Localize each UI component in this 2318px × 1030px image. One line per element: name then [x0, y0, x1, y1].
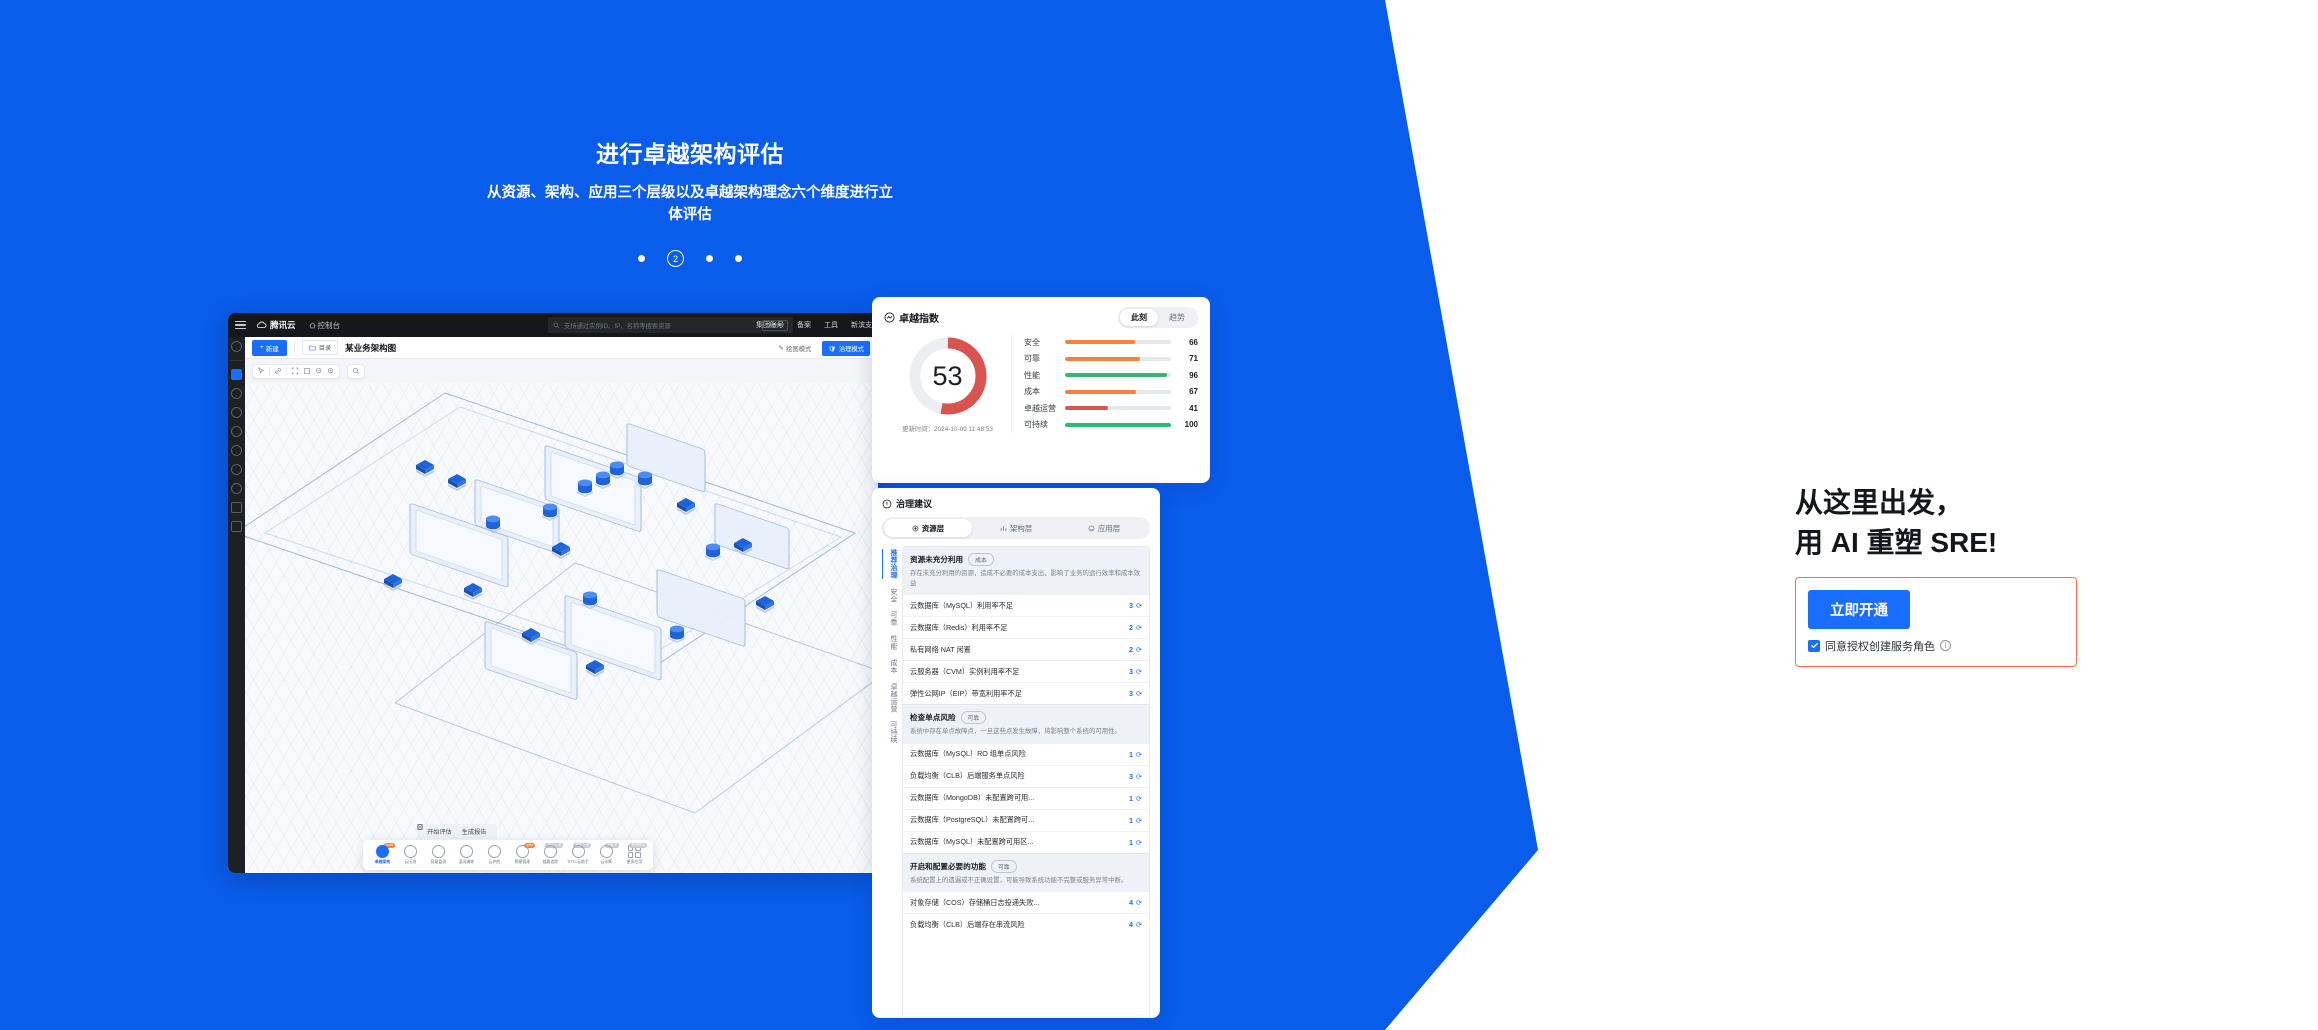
carousel-pagination[interactable]: 2: [470, 250, 910, 267]
trtc-assistant-icon: [572, 845, 585, 858]
updated-value: 2024-10-09 11:48:53: [934, 426, 993, 433]
architecture-layer-icon: [1000, 525, 1007, 532]
item-count: 3: [1129, 689, 1133, 698]
updated-label: 更新时间：: [902, 426, 934, 433]
search-icon[interactable]: [352, 367, 360, 375]
frame-icon[interactable]: [303, 367, 311, 375]
metric-name: 成本: [1024, 386, 1058, 397]
metric-row: 安全 66: [1024, 337, 1198, 348]
search-icon: [553, 322, 560, 329]
authorize-checkbox-label: 同意授权创建服务角色: [1825, 638, 1935, 654]
zoom-out-icon[interactable]: [315, 367, 323, 375]
canvas-search-button[interactable]: [347, 364, 365, 379]
pagination-dot-1[interactable]: [638, 255, 645, 262]
group-tag: 可靠: [961, 711, 987, 724]
group-title: 检查单点风险: [910, 712, 956, 723]
topbar-menu[interactable]: 集团账号 备案 工具 新滨支: [756, 313, 872, 337]
start-assessment-button[interactable]: 开始评估: [427, 827, 452, 836]
metric-bar: [1065, 340, 1171, 344]
dock-item-capacity-monitor[interactable]: 容量监测: [424, 845, 452, 866]
category-operations[interactable]: 卓越运营: [882, 683, 897, 713]
item-count: 2: [1129, 645, 1133, 654]
updated-time: 更新时间：2024-10-09 11:48:53: [902, 424, 993, 433]
tab-architecture-layer-label: 架构层: [1010, 523, 1032, 534]
item-count: 2: [1129, 623, 1133, 632]
governance-title: 治理建议: [896, 497, 932, 510]
generate-report-button[interactable]: 生成报告: [462, 827, 487, 836]
brand-label: 腾讯云: [270, 319, 296, 331]
suggestion-group-header: 检查单点风险 可靠 系统中存在单点故障点，一旦这些点发生故障，将影响整个系统的可…: [903, 704, 1149, 743]
console-link[interactable]: 控制台: [309, 320, 341, 331]
page-title: 进行卓越架构评估: [470, 140, 910, 170]
item-text: 云数据库（MySQL）未配置跨可用区...: [910, 837, 1125, 847]
metric-bar: [1065, 406, 1171, 410]
group-tag: 可靠: [991, 860, 1017, 873]
governance-category-rail[interactable]: 推荐治理 安全 可靠 性能 成本 卓越运营 可持续: [882, 546, 897, 1018]
canvas-toolbar[interactable]: [245, 359, 878, 383]
check-icon: [1810, 641, 1819, 650]
cta-block: 从这里出发， 用 AI 重塑 SRE! 立即开通 同意授权创建服务角色 i: [1795, 483, 2125, 667]
tab-resource-layer-label: 资源层: [922, 523, 944, 534]
canvas-action-bar[interactable]: 开始评估 生成报告: [417, 824, 497, 839]
pointer-icon[interactable]: [257, 367, 265, 375]
group-description: 存在未充分利用的资源，造成不必要的成本支出，影响了业务的运行效率和成本效益: [910, 569, 1142, 588]
metric-value: 96: [1178, 371, 1198, 380]
excellence-score-panel: 53 更新时间：2024-10-09 11:48:53: [884, 334, 1012, 433]
metric-value: 67: [1178, 387, 1198, 396]
link-icon[interactable]: [274, 367, 282, 375]
item-count: 1: [1129, 794, 1133, 803]
lightbulb-icon: [882, 499, 892, 509]
divider: [294, 342, 295, 353]
governance-layer-tabs[interactable]: 资源层 架构层 应用层: [882, 517, 1150, 539]
metric-value: 41: [1178, 404, 1198, 413]
report-icon: [417, 824, 423, 830]
item-text: 云数据库（MongoDB）未配置跨可用...: [910, 793, 1125, 803]
refresh-icon[interactable]: ⟳: [1136, 689, 1142, 698]
page-subtitle: 从资源、架构、应用三个层级以及卓越架构理念六个维度进行立体评估: [470, 182, 910, 227]
governance-suggestion-list[interactable]: 资源未充分利用 成本 存在未充分利用的资源，造成不必要的成本支出，影响了业务的运…: [902, 546, 1150, 1018]
pencil-icon: ✎: [778, 345, 783, 352]
metric-bar: [1065, 390, 1171, 394]
governance-body: 推荐治理 安全 可靠 性能 成本 卓越运营 可持续 资源未充分利用 成本 存在未…: [882, 546, 1150, 1018]
application-layer-icon: [1088, 525, 1095, 532]
topbar-menu-item-1[interactable]: 备案: [797, 320, 811, 330]
architecture-canvas[interactable]: 开始评估 生成报告 beta 卓越架构: [245, 383, 878, 873]
sidebar-item-server[interactable]: [231, 521, 242, 532]
console-topbar: 腾讯云 控制台 支持通过实例ID、IP、名称等搜索资源 快捷键 / 集团账号 备…: [228, 313, 878, 337]
category-performance[interactable]: 性能: [882, 635, 897, 650]
divider: [286, 367, 287, 375]
dock-item-cloud-diagnosis[interactable]: 开发中 云诊断: [592, 845, 620, 866]
authorize-checkbox-row[interactable]: 同意授权创建服务角色 i: [1808, 638, 2062, 654]
dock-item-label: 容量监测: [430, 859, 445, 865]
item-count: 1: [1129, 750, 1133, 759]
list-item[interactable]: 云服务器（CVM）实例利用率不足 3 ⟳: [903, 660, 1149, 682]
hero-block: 进行卓越架构评估 从资源、架构、应用三个层级以及卓越架构理念六个维度进行立体评估: [470, 140, 910, 227]
directory-button[interactable]: 目录: [302, 340, 338, 355]
topbar-menu-item-0[interactable]: 集团账号: [756, 320, 784, 330]
list-item[interactable]: 负载均衡（CLB）后端服务单点风险 3 ⟳: [903, 765, 1149, 787]
refresh-icon[interactable]: ⟳: [1136, 794, 1142, 803]
list-item[interactable]: 对象存储（COS）存储桶日志投递失败... 4 ⟳: [903, 891, 1149, 913]
metric-list: 安全 66 可靠 71 性能 96 成本 67: [1012, 334, 1198, 433]
document-title: 某业务架构图: [345, 342, 396, 354]
fit-icon[interactable]: [291, 367, 299, 375]
item-text: 弹性公网IP（EIP）带宽利用率不足: [910, 689, 1125, 699]
tab-application-layer[interactable]: 应用层: [1060, 519, 1148, 537]
dock-item-load-test[interactable]: 云压测: [396, 845, 424, 866]
item-text: 对象存储（COS）存储桶日志投递失败...: [910, 898, 1125, 908]
console-sidebar-rail[interactable]: [228, 337, 245, 873]
search-placeholder: 支持通过实例ID、IP、名称等搜索资源: [564, 321, 671, 330]
item-text: 云数据库（Redis）利用率不足: [910, 623, 1125, 633]
new-button[interactable]: + 新建: [252, 340, 287, 356]
metric-name: 可靠: [1024, 353, 1058, 364]
draw-mode-label: 绘图模式: [786, 344, 811, 353]
item-count: 3: [1129, 667, 1133, 676]
metric-name: 可持续: [1024, 419, 1058, 430]
cloud-escort-icon: [488, 845, 501, 858]
console-window-mock: 腾讯云 控制台 支持通过实例ID、IP、名称等搜索资源 快捷键 / 集团账号 备…: [228, 313, 878, 873]
metric-bar: [1065, 373, 1171, 377]
metric-row: 可靠 71: [1024, 353, 1198, 364]
pagination-dot-3[interactable]: [706, 255, 713, 262]
dock-item-chaos-drill[interactable]: 混沌演练: [452, 845, 480, 866]
suggestion-group-header: 资源未充分利用 成本 存在未充分利用的资源，造成不必要的成本支出，影响了业务的运…: [903, 547, 1149, 594]
dock-item-label: 云护航: [488, 859, 500, 865]
item-text: 负载均衡（CLB）后端存在串流风险: [910, 920, 1125, 930]
dock-item-label: 混沌演练: [458, 859, 473, 865]
cloud-icon: [256, 321, 267, 329]
activate-button[interactable]: 立即开通: [1808, 590, 1910, 629]
refresh-icon[interactable]: ⟳: [1136, 772, 1142, 781]
refresh-icon[interactable]: ⟳: [1136, 816, 1142, 825]
group-tag: 成本: [968, 553, 994, 566]
refresh-icon[interactable]: ⟳: [1136, 601, 1142, 610]
metric-name: 性能: [1024, 370, 1058, 381]
capacity-monitor-icon: [432, 845, 445, 858]
shield-icon: 🛡: [828, 345, 836, 353]
mode-switch-group[interactable]: ✎ 绘图模式 🛡 治理模式: [772, 341, 870, 356]
dock-item-cloud-escort[interactable]: 云护航: [480, 845, 508, 866]
item-text: 私有网络 NAT 闲置: [910, 645, 1125, 655]
list-item[interactable]: 云数据库（MySQL）利用率不足 3 ⟳: [903, 594, 1149, 616]
dock-item-label: 卓越架构: [374, 859, 389, 865]
sidebar-item-monitor[interactable]: [231, 426, 242, 437]
gauge-icon: [884, 312, 895, 323]
resource-layer-icon: [912, 525, 919, 532]
metric-name: 卓越运营: [1024, 403, 1058, 414]
tab-trend[interactable]: 趋势: [1158, 309, 1196, 326]
item-text: 云数据库（MySQL）利用率不足: [910, 601, 1125, 611]
metric-row: 性能 96: [1024, 370, 1198, 381]
item-text: 负载均衡（CLB）后端服务单点风险: [910, 771, 1125, 781]
tab-now[interactable]: 此刻: [1120, 309, 1158, 326]
metric-row: 成本 67: [1024, 386, 1198, 397]
load-test-icon: [404, 845, 417, 858]
metric-bar: [1065, 423, 1171, 427]
sidebar-item-window[interactable]: [231, 502, 242, 513]
excellence-index-card: 卓越指数 此刻 趋势 53 更新时间：2024-10-09 11:48:53: [872, 297, 1210, 483]
cta-headline-line1: 从这里出发，: [1795, 483, 2125, 523]
sidebar-item-network[interactable]: [231, 464, 242, 475]
refresh-icon[interactable]: ⟳: [1136, 750, 1142, 759]
refresh-icon[interactable]: ⟳: [1136, 667, 1142, 676]
metric-name: 安全: [1024, 337, 1058, 348]
item-text: 云数据库（PostgreSQL）未配置跨可...: [910, 815, 1125, 825]
category-security[interactable]: 安全: [882, 588, 897, 603]
metric-value: 66: [1178, 338, 1198, 347]
directory-label: 目录: [319, 343, 331, 352]
list-item[interactable]: 私有网络 NAT 闲置 2 ⟳: [903, 638, 1149, 660]
pagination-dot-2-active[interactable]: 2: [667, 250, 684, 267]
dock-item-more-apps[interactable]: 敬请期待 更多应用: [620, 845, 648, 866]
dock-item-label: 预案管理: [514, 859, 529, 865]
home-icon: [309, 322, 316, 329]
chaos-drill-icon: [460, 845, 473, 858]
sidebar-item-resource[interactable]: [231, 388, 242, 399]
console-body: + 新建 目录 某业务架构图 ✎ 绘图模式: [228, 337, 878, 873]
category-recommended[interactable]: 推荐治理: [882, 549, 897, 579]
excellence-index-body: 53 更新时间：2024-10-09 11:48:53 安全 66 可靠 71: [884, 334, 1198, 433]
dock-item-label: 云诊断: [600, 859, 612, 865]
hamburger-icon[interactable]: [235, 321, 246, 329]
tab-resource-layer[interactable]: 资源层: [884, 519, 972, 537]
list-item[interactable]: 云数据库（PostgreSQL）未配置跨可... 1 ⟳: [903, 809, 1149, 831]
document-toolbar: + 新建 目录 某业务架构图 ✎ 绘图模式: [245, 337, 878, 359]
score-donut: 53: [906, 334, 990, 418]
folder-icon: [309, 345, 316, 351]
divider: [269, 367, 270, 375]
plus-icon: +: [260, 344, 264, 351]
dock-item-label: 云压测: [404, 859, 416, 865]
score-value: 53: [906, 334, 990, 418]
plan-management-icon: [516, 845, 529, 858]
excellence-architecture-icon: [376, 845, 389, 858]
item-count: 1: [1129, 816, 1133, 825]
dock-item-label: TRTC云助手: [567, 859, 589, 865]
topbar-menu-item-3[interactable]: 新滨支: [851, 320, 872, 330]
rail-divider: [230, 360, 243, 361]
cloud-diagnosis-icon: [600, 845, 613, 858]
category-cost[interactable]: 成本: [882, 659, 897, 674]
group-description: 系统配置上的遗漏或不正确设置，可能导致系统功能不完整或服务异常中断。: [910, 876, 1142, 886]
refresh-icon[interactable]: ⟳: [1136, 623, 1142, 632]
category-sustainability[interactable]: 可持续: [882, 721, 897, 743]
refresh-icon[interactable]: ⟳: [1136, 838, 1142, 847]
item-count: 4: [1129, 920, 1133, 929]
draw-mode-button[interactable]: ✎ 绘图模式: [772, 341, 817, 356]
refresh-icon[interactable]: ⟳: [1136, 920, 1142, 929]
list-item[interactable]: 云数据库（MySQL）未配置跨可用区... 1 ⟳: [903, 831, 1149, 853]
cta-headline-line2: 用 AI 重塑 SRE!: [1795, 523, 2125, 563]
user-avatar-icon[interactable]: [231, 341, 242, 352]
governance-title-group: 治理建议: [882, 497, 1150, 510]
dock-item-trace[interactable]: 即将上线 链路追踪: [536, 845, 564, 866]
pagination-dot-4[interactable]: [735, 255, 742, 262]
excellence-index-header: 卓越指数 此刻 趋势: [884, 307, 1198, 328]
item-count: 3: [1129, 601, 1133, 610]
zoom-in-icon[interactable]: [327, 367, 335, 375]
new-button-label: 新建: [266, 343, 279, 353]
sidebar-item-architecture[interactable]: [231, 369, 242, 380]
cta-highlight-box: 立即开通 同意授权创建服务角色 i: [1795, 577, 2077, 667]
start-assessment-label: 开始评估: [427, 827, 452, 836]
console-link-label: 控制台: [318, 320, 341, 331]
list-item[interactable]: 云数据库（MongoDB）未配置跨可用... 1 ⟳: [903, 787, 1149, 809]
trace-icon: [544, 845, 557, 858]
app-dock[interactable]: beta 卓越架构 云压测 容量监测: [363, 840, 653, 870]
canvas-tool-group[interactable]: [252, 364, 340, 379]
governance-mode-label: 治理模式: [839, 344, 864, 353]
excellence-index-title-group: 卓越指数: [884, 310, 939, 325]
item-text: 云数据库（MySQL）RO 组单点风险: [910, 749, 1125, 759]
governance-suggestions-card: 治理建议 资源层 架构层 应用层 推荐治理 安全 可靠 性能 成本: [872, 488, 1160, 1018]
generate-report-label: 生成报告: [462, 827, 487, 836]
brand-logo[interactable]: 腾讯云: [256, 319, 296, 331]
dock-badge: 敬请期待: [629, 843, 647, 848]
group-title: 开启和配置必要的功能: [910, 861, 986, 872]
dock-item-label: 更多应用: [626, 859, 641, 865]
dock-item-trtc-assistant[interactable]: 即将上线 TRTC云助手: [564, 845, 592, 866]
suggestion-group-header: 开启和配置必要的功能 可靠 系统配置上的遗漏或不正确设置，可能导致系统功能不完整…: [903, 853, 1149, 892]
index-time-toggle[interactable]: 此刻 趋势: [1118, 307, 1198, 328]
category-reliability[interactable]: 可靠: [882, 611, 897, 626]
item-count: 4: [1129, 898, 1133, 907]
list-item[interactable]: 云数据库（Redis）利用率不足 2 ⟳: [903, 616, 1149, 638]
sidebar-item-cloud[interactable]: [231, 407, 242, 418]
refresh-icon[interactable]: ⟳: [1136, 898, 1142, 907]
group-description: 系统中存在单点故障点，一旦这些点发生故障，将影响整个系统的可用性。: [910, 727, 1142, 737]
info-icon[interactable]: i: [1940, 640, 1951, 651]
authorize-checkbox[interactable]: [1808, 640, 1820, 652]
list-item[interactable]: 弹性公网IP（EIP）带宽利用率不足 3 ⟳: [903, 682, 1149, 704]
metric-value: 100: [1178, 420, 1198, 429]
sidebar-item-target[interactable]: [231, 445, 242, 456]
list-item[interactable]: 负载均衡（CLB）后端存在串流风险 4 ⟳: [903, 913, 1149, 935]
list-item[interactable]: 云数据库（MySQL）RO 组单点风险 1 ⟳: [903, 743, 1149, 765]
metric-value: 71: [1178, 354, 1198, 363]
dock-item-excellence-architecture[interactable]: beta 卓越架构: [368, 845, 396, 866]
metric-row: 卓越运营 41: [1024, 403, 1198, 414]
topbar-menu-item-2[interactable]: 工具: [824, 320, 838, 330]
sidebar-item-settings[interactable]: [231, 483, 242, 494]
group-title: 资源未充分利用: [910, 554, 963, 565]
metric-bar: [1065, 357, 1171, 361]
dock-item-label: 链路追踪: [542, 859, 557, 865]
item-count: 3: [1129, 772, 1133, 781]
console-main: + 新建 目录 某业务架构图 ✎ 绘图模式: [245, 337, 878, 873]
excellence-index-title: 卓越指数: [899, 310, 939, 325]
isometric-architecture-diagram: [245, 383, 878, 843]
item-text: 云服务器（CVM）实例利用率不足: [910, 667, 1125, 677]
governance-mode-button[interactable]: 🛡 治理模式: [822, 341, 870, 356]
item-count: 1: [1129, 838, 1133, 847]
tab-application-layer-label: 应用层: [1098, 523, 1120, 534]
tab-architecture-layer[interactable]: 架构层: [972, 519, 1060, 537]
refresh-icon[interactable]: ⟳: [1136, 645, 1142, 654]
dock-item-plan-management[interactable]: beta 预案管理: [508, 845, 536, 866]
metric-row: 可持续 100: [1024, 419, 1198, 430]
